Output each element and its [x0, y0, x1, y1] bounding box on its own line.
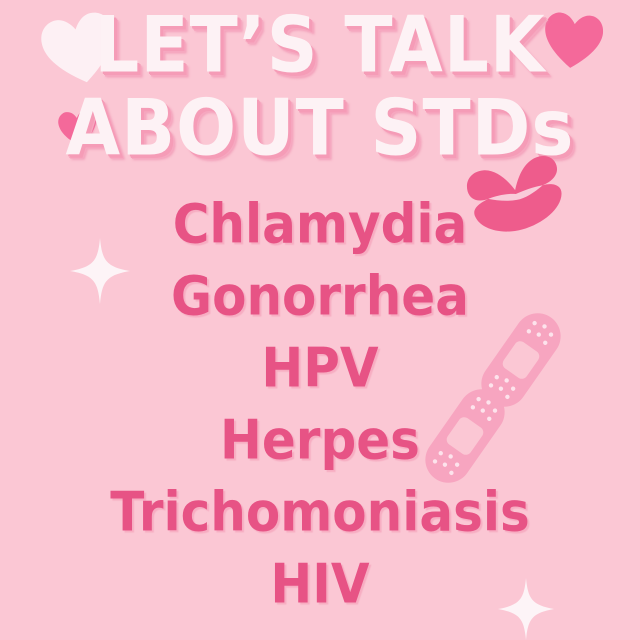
list-item: HIV — [0, 545, 640, 623]
std-list: Chlamydia Gonorrhea HPV Herpes Trichomon… — [0, 188, 640, 620]
list-item: Trichomoniasis — [0, 473, 640, 551]
title-line-1: LET’S TALK — [0, 2, 640, 87]
poster-title: LET’S TALK ABOUT STDs — [0, 2, 640, 157]
poster-canvas: LET’S TALK ABOUT STDs Chlamydia Gonorrhe… — [0, 0, 640, 640]
list-item: Herpes — [0, 401, 640, 479]
